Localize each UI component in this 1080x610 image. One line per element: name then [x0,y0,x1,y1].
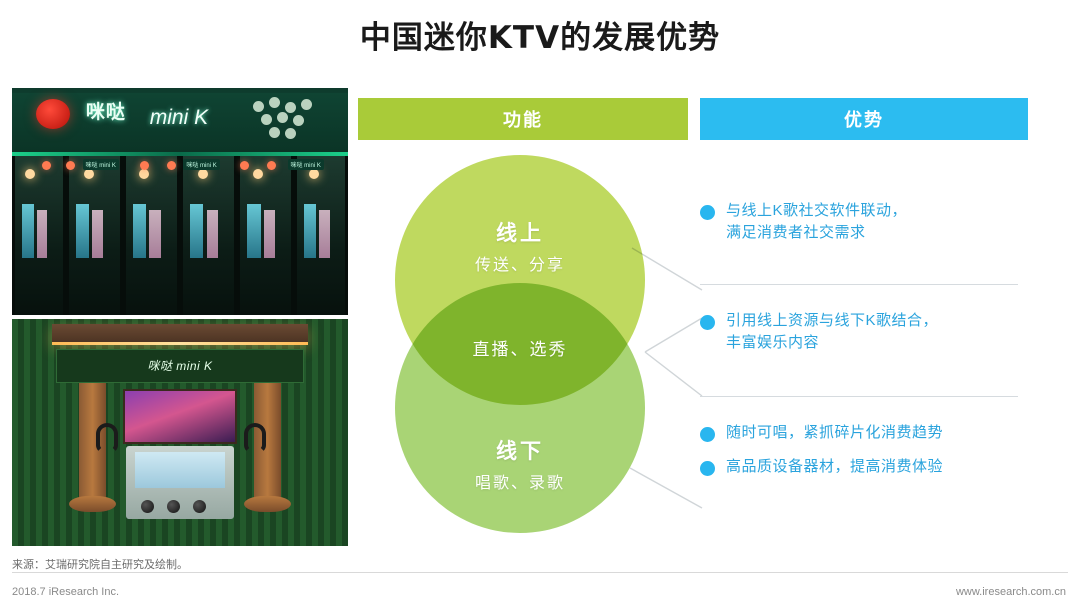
page-title: 中国迷你KTV的发展优势 [0,12,1080,57]
header-advantage: 优势 [700,98,1028,140]
booth-lamp [84,169,94,179]
booth-cell [180,156,237,315]
interior-stool [244,496,291,512]
booth-screen [76,204,89,258]
interior-ceiling-light [52,342,307,345]
booth-panel [149,210,160,258]
photo-column: 咪哒 mini K [12,88,348,546]
advantage-line: 引用线上资源与线下K歌结合， [726,310,938,332]
advantage-group-overlap: 引用线上资源与线下K歌结合， 丰富娱乐内容 [700,310,1030,362]
booth-lamp [198,169,208,179]
advantage-text: 引用线上资源与线下K歌结合， 丰富娱乐内容 [726,310,938,354]
booth-lamp [309,169,319,179]
booth-cell [12,156,66,315]
booth-panel [92,210,103,258]
console-touchscreen [135,452,225,488]
booth-lamp [253,169,263,179]
sign-led-strip [12,152,348,156]
advantage-line: 高品质设备器材，提高消费体验 [726,456,943,478]
advantage-text: 随时可唱，紧抓碎片化消费趋势 [726,422,943,444]
source-note: 来源：艾瑞研究院自主研究及绘制。 [12,556,188,572]
booth-lamp [139,169,149,179]
list-item: 与线上K歌社交软件联动， 满足消费者社交需求 [700,200,1030,244]
booth-cell [123,156,180,315]
venn-circle-offline [395,283,645,533]
booth-panel [319,210,330,258]
footer-divider [12,572,1068,573]
advantage-group-online: 与线上K歌社交软件联动， 满足消费者社交需求 [700,200,1030,252]
divider [700,396,1018,397]
booth-sign-tag: 咪哒 mini K [288,159,324,170]
interior-console [126,446,234,519]
headphone-icon [96,423,118,453]
slide-root: 中国迷你KTV的发展优势 咪哒 mini K [0,0,1080,610]
booth-sign-tag: 咪哒 mini K [83,159,119,170]
booth-screen [247,204,260,258]
advantage-line: 随时可唱，紧抓碎片化消费趋势 [726,422,943,444]
booth-sign-tag: 咪哒 mini K [183,159,219,170]
bullet-dot-icon [700,205,715,220]
booth-screen [22,204,34,258]
bullet-dot-icon [700,427,715,442]
header-function: 功能 [358,98,688,140]
advantage-group-offline: 随时可唱，紧抓碎片化消费趋势 高品质设备器材，提高消费体验 [700,422,1030,486]
interior-banner-text: 咪哒 mini K [147,357,212,374]
booth-lamp [25,169,35,179]
storefront-scene: 咪哒 mini K [12,88,348,315]
advantage-text: 与线上K歌社交软件联动， 满足消费者社交需求 [726,200,907,244]
footer-copyright: 2018.7 iResearch Inc. [12,586,119,598]
lantern-decoration [36,99,70,129]
booth-screen [304,204,316,258]
footer-website: www.iresearch.com.cn [956,586,1066,598]
list-item: 高品质设备器材，提高消费体验 [700,456,1030,478]
booth-screen [133,204,146,258]
interior-stool [69,496,116,512]
booth-interior-scene: 咪哒 mini K [12,319,348,546]
advantage-line: 丰富娱乐内容 [726,332,938,354]
storefront-brand-text: 咪哒 [86,101,126,123]
booth-panel [264,210,275,258]
bullet-dot-icon [700,315,715,330]
booth-panel [207,210,218,258]
interior-banner: 咪哒 mini K [56,349,305,383]
list-item: 随时可唱，紧抓碎片化消费趋势 [700,422,1030,444]
booth-row: 咪哒 mini K 咪哒 mini K 咪哒 mini K [12,156,348,315]
storefront-photo: 咪哒 mini K [12,88,348,315]
storefront-brand-logo: 咪哒 [86,97,126,124]
booth-interior-photo: 咪哒 mini K [12,319,348,546]
list-item: 引用线上资源与线下K歌结合， 丰富娱乐内容 [700,310,1030,354]
venn-diagram: 线上 传送、分享 直播、选秀 线下 唱歌、录歌 [395,155,655,535]
advantage-line: 满足消费者社交需求 [726,222,907,244]
bullet-dot-icon [700,461,715,476]
booth-panel [37,210,48,258]
headphone-icon [244,423,266,453]
booth-cell [237,156,294,315]
storefront-brand-en: mini K [150,106,208,130]
interior-video-screen [123,389,237,443]
booth-cell [66,156,123,315]
booth-cell [294,156,348,315]
divider [700,284,1018,285]
advantage-line: 与线上K歌社交软件联动， [726,200,907,222]
grape-decoration [249,97,321,143]
booth-screen [190,204,203,258]
advantage-text: 高品质设备器材，提高消费体验 [726,456,943,478]
